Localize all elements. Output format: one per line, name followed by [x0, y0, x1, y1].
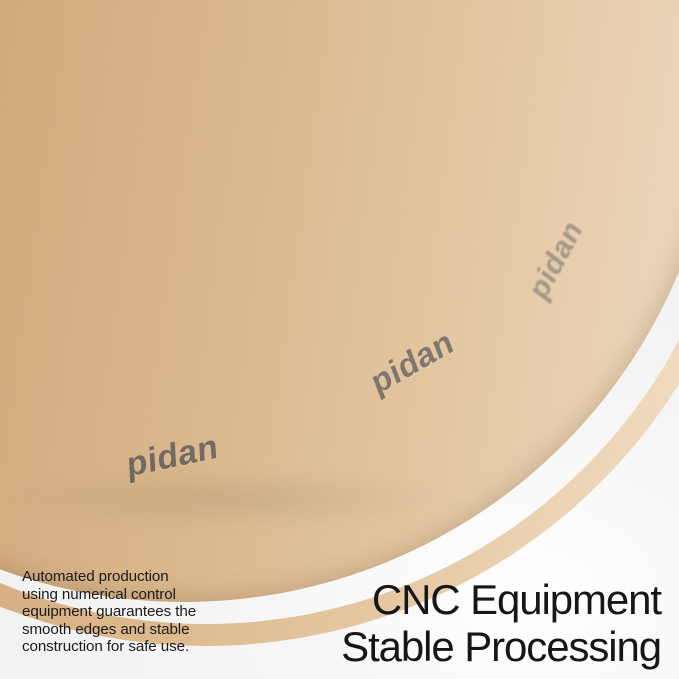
- headline-line-2: Stable Processing: [241, 623, 661, 670]
- body-copy: Automated production using numerical con…: [22, 568, 262, 656]
- body-copy-line: construction for safe use.: [22, 638, 262, 656]
- headline: CNC Equipment Stable Processing: [241, 576, 661, 670]
- headline-line-1: CNC Equipment: [241, 576, 661, 623]
- body-copy-line: using numerical control: [22, 586, 262, 604]
- body-copy-line: Automated production: [22, 568, 262, 586]
- body-copy-line: smooth edges and stable: [22, 621, 262, 639]
- product-marketing-image: pidan pidan pidan Automated production u…: [0, 0, 679, 679]
- body-copy-line: equipment guarantees the: [22, 603, 262, 621]
